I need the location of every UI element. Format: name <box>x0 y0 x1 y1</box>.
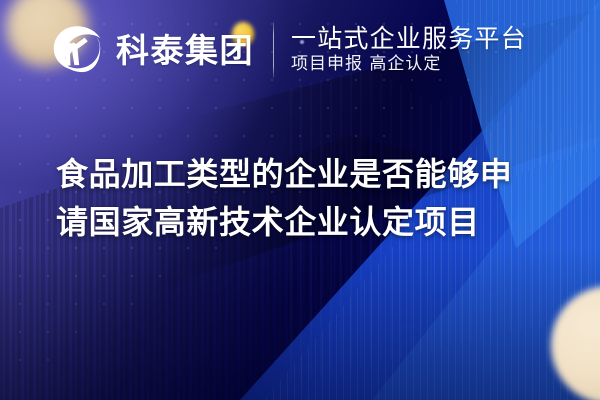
logo-lockup[interactable]: 科泰集团 <box>50 23 254 77</box>
header-divider <box>273 22 274 78</box>
logo-wordmark: 科泰集团 <box>116 34 254 67</box>
tagline-main: 一站式企业服务平台 <box>291 26 527 52</box>
tagline-sub: 项目申报 高企认定 <box>291 55 527 74</box>
headline-block: 食品加工类型的企业是否能够申 请国家高新技术企业认定项目 <box>56 150 556 246</box>
promo-banner: 科泰集团 一站式企业服务平台 项目申报 高企认定 食品加工类型的企业是否能够申 … <box>0 0 600 400</box>
cream-circle-icon <box>551 286 600 400</box>
headline-line-1: 食品加工类型的企业是否能够申 <box>56 150 556 198</box>
headline-line-2: 请国家高新技术企业认定项目 <box>56 198 556 246</box>
tagline-block: 一站式企业服务平台 项目申报 高企认定 <box>291 26 527 74</box>
banner-header: 科泰集团 一站式企业服务平台 项目申报 高企认定 <box>0 0 600 100</box>
ketai-circle-logo-icon <box>50 23 104 77</box>
